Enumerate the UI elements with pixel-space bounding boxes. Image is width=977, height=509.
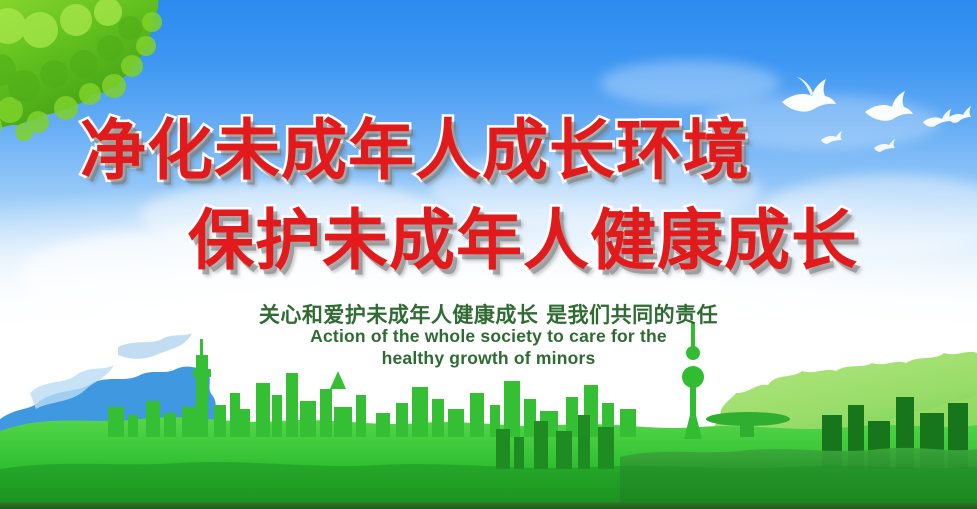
headline-line-2: 保护未成年人健康成长 — [188, 208, 858, 274]
headline-line-1: 净化未成年人成长环境 — [80, 118, 750, 184]
text-layer: 净化未成年人成长环境 保护未成年人健康成长 关心和爱护未成年人健康成长 是我们共… — [0, 0, 977, 509]
poster-banner: 净化未成年人成长环境 保护未成年人健康成长 关心和爱护未成年人健康成长 是我们共… — [0, 0, 977, 509]
subtitle-english-line-2: healthy growth of minors — [0, 347, 977, 369]
subtitle-english: Action of the whole society to care for … — [0, 325, 977, 369]
subtitle-english-line-1: Action of the whole society to care for … — [0, 325, 977, 347]
